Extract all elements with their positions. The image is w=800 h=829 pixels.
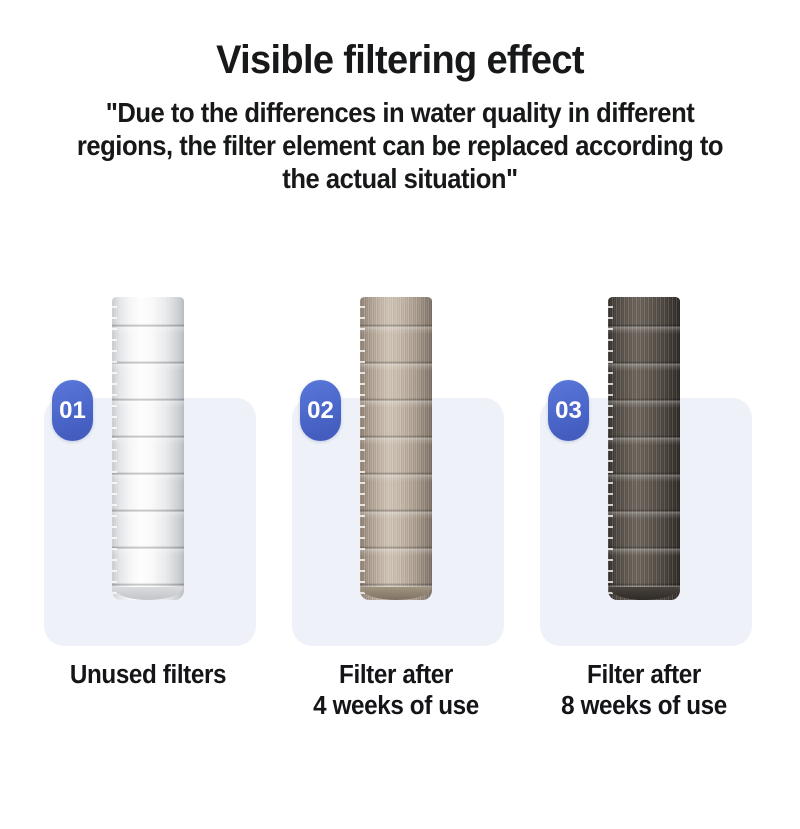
cartridge-edge-fringe [608,297,613,600]
filter-image-1 [22,270,274,690]
step-badge-02: 02 [300,380,341,441]
page-subtitle: "Due to the differences in water quality… [28,84,772,195]
caption-2-line-1: Filter after [276,660,515,691]
caption-3-line-1: Filter after [524,660,763,691]
comparison-item-1: 01 Unused filters [22,270,274,770]
subtitle-line-1: "Due to the differences in water quality… [28,96,772,129]
cartridge-rib-bands [112,297,184,600]
cartridge-edge-fringe [360,297,365,600]
step-badge-01: 01 [52,380,93,441]
caption-1: Unused filters [28,660,267,691]
subtitle-line-2: regions, the filter element can be repla… [28,129,772,162]
cartridge-rib-bands [608,297,680,600]
caption-1-line-1: Unused filters [28,660,267,691]
cartridge-rib-bands [360,297,432,600]
filter-image-3 [518,270,770,690]
caption-2: Filter after 4 weeks of use [276,660,515,722]
subtitle-line-3: the actual situation" [28,162,772,195]
caption-3-line-2: 8 weeks of use [524,691,763,722]
cartridge-edge-fringe [112,297,117,600]
comparison-item-3: 03 Filter after 8 weeks of use [518,270,770,770]
caption-3: Filter after 8 weeks of use [524,660,763,722]
filter-cartridge-8-weeks [608,297,680,600]
infographic-header: Visible filtering effect "Due to the dif… [0,0,800,195]
filter-cartridge-4-weeks [360,297,432,600]
filter-comparison-strip: 01 Unused filters 02 Filter after 4 week… [0,270,800,790]
filter-cartridge-unused [112,297,184,600]
comparison-item-2: 02 Filter after 4 weeks of use [270,270,522,770]
page-title: Visible filtering effect [20,0,780,84]
caption-2-line-2: 4 weeks of use [276,691,515,722]
filter-image-2 [270,270,522,690]
step-badge-03: 03 [548,380,589,441]
